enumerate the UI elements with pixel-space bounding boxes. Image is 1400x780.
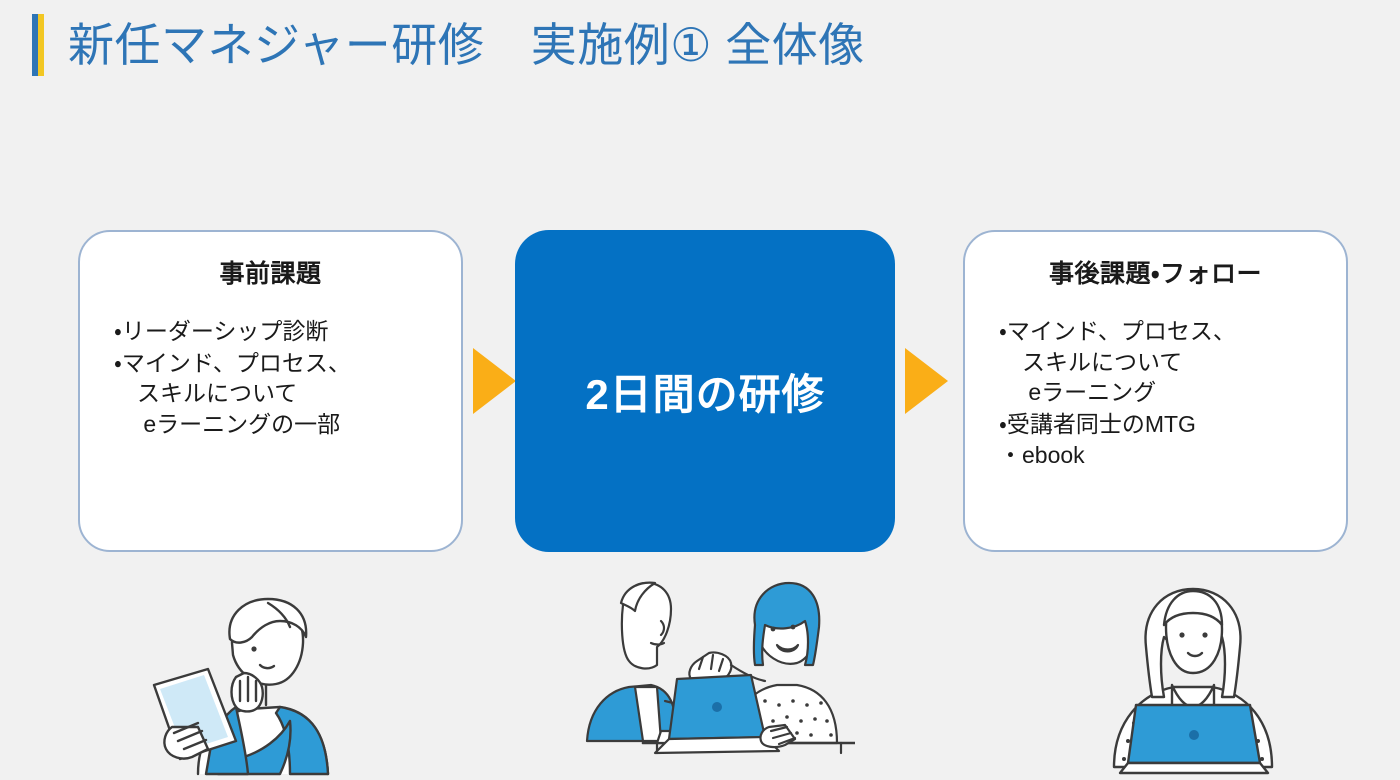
arrow-right-icon — [905, 348, 948, 414]
accent-bar-yellow-segment — [38, 14, 44, 76]
page-title: 新任マネジャー研修 実施例① 全体像 — [68, 21, 865, 69]
card-pre-assignment: 事前課題 ・リーダーシップ診断 ・マインド、プロセス、 スキルについて eラーニ… — [78, 230, 463, 552]
person-with-tablet-thinking-illustration — [140, 581, 370, 776]
woman-with-laptop-elearning-illustration — [1090, 581, 1295, 776]
two-people-meeting-with-laptop-illustration — [565, 581, 855, 776]
title-accent-bar-icon — [32, 14, 44, 76]
list-item: ・マインド、プロセス、 スキルについて eラーニング — [999, 316, 1326, 408]
list-item: ・ebook — [999, 440, 1326, 471]
list-item: ・リーダーシップ診断 — [114, 316, 441, 347]
card-pre-assignment-bullet-list: ・リーダーシップ診断 ・マインド、プロセス、 スキルについて eラーニングの一部 — [100, 316, 441, 439]
card-main-training-heading: 2日間の研修 — [585, 361, 824, 422]
card-main-training: 2日間の研修 — [515, 230, 895, 552]
card-post-assignment: 事後課題・フォロー ・マインド、プロセス、 スキルについて eラーニング ・受講… — [963, 230, 1348, 552]
card-post-assignment-bullet-list: ・マインド、プロセス、 スキルについて eラーニング ・受講者同士のMTG ・e… — [985, 316, 1326, 471]
list-item: ・受講者同士のMTG — [999, 409, 1326, 440]
arrow-right-icon — [473, 348, 516, 414]
card-pre-assignment-heading: 事前課題 — [100, 254, 441, 290]
card-post-assignment-heading: 事後課題・フォロー — [985, 254, 1326, 290]
training-flow-diagram: 事前課題 ・リーダーシップ診断 ・マインド、プロセス、 スキルについて eラーニ… — [0, 230, 1400, 560]
slide-title-row: 新任マネジャー研修 実施例① 全体像 — [32, 14, 865, 76]
list-item: ・マインド、プロセス、 スキルについて eラーニングの一部 — [114, 348, 441, 440]
